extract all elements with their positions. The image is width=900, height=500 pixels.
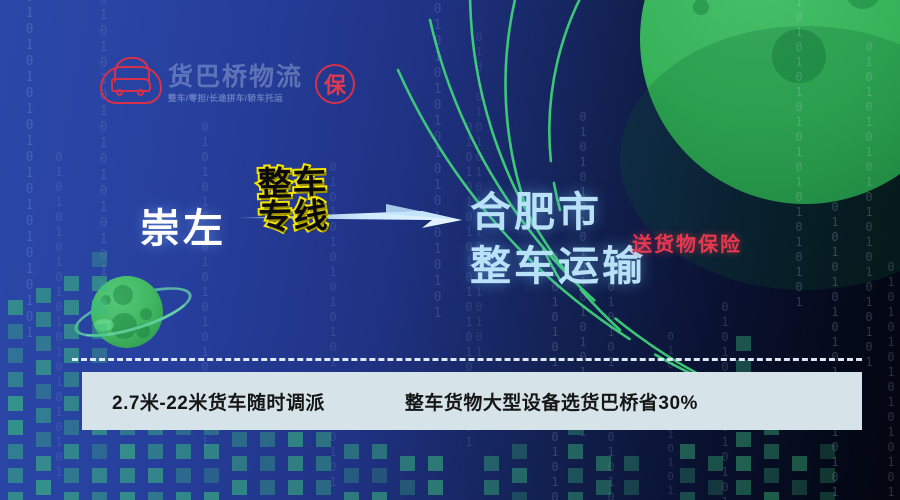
- pixel-square: [260, 456, 275, 471]
- pixel-square: [372, 492, 387, 500]
- pixel-square: [260, 432, 275, 447]
- destination-service: 整车运输: [470, 239, 646, 293]
- pixel-square: [680, 468, 695, 483]
- pixel-square: [64, 468, 79, 483]
- pixel-square: [204, 492, 219, 500]
- pixel-square: [680, 492, 695, 500]
- ringed-planet: [78, 272, 188, 352]
- green-planet: [640, 0, 900, 204]
- pixel-square: [176, 444, 191, 459]
- brand-logo[interactable]: 货巴桥物流 整车/零担/长途拼车/轿车托运 保: [100, 62, 355, 106]
- info-left: 2.7米-22米货车随时调派: [112, 388, 325, 415]
- binary-column: 0101010101010101010101: [22, 0, 37, 342]
- pixel-square: [764, 468, 779, 483]
- origin-city: 崇左: [140, 196, 226, 254]
- pixel-square: [512, 492, 527, 500]
- pixel-square: [36, 288, 51, 303]
- pixel-square: [512, 468, 527, 483]
- pixel-square: [92, 444, 107, 459]
- pixel-square: [428, 480, 443, 495]
- pixel-square: [288, 480, 303, 495]
- divider-dashed: [72, 358, 862, 361]
- pixel-square: [764, 492, 779, 500]
- pixel-square: [736, 336, 751, 351]
- pixel-square: [512, 444, 527, 459]
- pixel-square: [736, 480, 751, 495]
- pixel-square: [36, 456, 51, 471]
- pixel-square: [176, 492, 191, 500]
- route-tag-line2: 专线: [258, 200, 329, 235]
- pixel-square: [64, 492, 79, 500]
- pixel-square: [708, 456, 723, 471]
- insurance-badge: 保: [315, 64, 355, 104]
- brand-tagline: 整车/零担/长途拼车/轿车托运: [168, 92, 303, 104]
- pixel-square: [204, 444, 219, 459]
- cloud-truck-icon: [100, 62, 162, 106]
- pixel-square: [568, 468, 583, 483]
- pixel-square: [64, 300, 79, 315]
- brand-name: 货巴桥物流: [168, 64, 303, 90]
- pixel-square: [820, 444, 835, 459]
- binary-column: 0101010101010101010101: [52, 150, 66, 480]
- pixel-square: [624, 456, 639, 471]
- pixel-square: [288, 432, 303, 447]
- pixel-square: [36, 432, 51, 447]
- info-bar: 2.7米-22米货车随时调派 整车货物大型设备选货巴桥省30%: [82, 372, 862, 430]
- pixel-square: [764, 444, 779, 459]
- pixel-square: [36, 384, 51, 399]
- pixel-square: [624, 480, 639, 495]
- destination-city: 合肥市: [470, 185, 646, 239]
- pixel-square: [568, 492, 583, 500]
- route-type-tag: 整车 专线: [257, 167, 329, 235]
- pixel-square: [484, 456, 499, 471]
- pixel-square: [316, 432, 331, 447]
- pixel-square: [8, 444, 23, 459]
- pixel-square: [120, 492, 135, 500]
- pixel-square: [568, 444, 583, 459]
- pixel-square: [64, 420, 79, 435]
- binary-column: 0101010101010101010101: [430, 0, 445, 322]
- pixel-square: [148, 444, 163, 459]
- pixel-square: [148, 492, 163, 500]
- pixel-square: [316, 456, 331, 471]
- pixel-square: [36, 480, 51, 495]
- pixel-square: [344, 444, 359, 459]
- pixel-square: [400, 480, 415, 495]
- pixel-square: [400, 456, 415, 471]
- pixel-square: [64, 276, 79, 291]
- pixel-square: [316, 480, 331, 495]
- pixel-square: [92, 492, 107, 500]
- pixel-square: [8, 492, 23, 500]
- pixel-square: [820, 492, 835, 500]
- pixel-square: [8, 324, 23, 339]
- pixel-square: [64, 444, 79, 459]
- pixel-square: [596, 480, 611, 495]
- pixel-square: [372, 444, 387, 459]
- pixel-square: [344, 492, 359, 500]
- pixel-square: [484, 480, 499, 495]
- binary-column: 0101010101010101010101: [884, 260, 898, 500]
- pixel-square: [36, 360, 51, 375]
- pixel-square: [36, 408, 51, 423]
- pixel-square: [8, 420, 23, 435]
- pixel-square: [8, 468, 23, 483]
- pixel-square: [232, 480, 247, 495]
- pixel-square: [680, 444, 695, 459]
- pixel-square: [820, 468, 835, 483]
- pixel-square: [64, 372, 79, 387]
- pixel-square: [204, 468, 219, 483]
- pixel-square: [288, 456, 303, 471]
- pixel-square: [8, 300, 23, 315]
- pixel-square: [736, 432, 751, 447]
- pixel-square: [736, 456, 751, 471]
- destination-block: 合肥市 整车运输: [470, 185, 646, 293]
- pixel-square: [92, 252, 107, 267]
- pixel-square: [8, 348, 23, 363]
- pixel-square: [120, 468, 135, 483]
- pixel-square: [596, 456, 611, 471]
- pixel-square: [92, 468, 107, 483]
- poster-canvas: 0101010101010101010101 01010101010101010…: [0, 0, 900, 500]
- pixel-square: [344, 468, 359, 483]
- pixel-square: [792, 456, 807, 471]
- pixel-square: [372, 468, 387, 483]
- pixel-square: [232, 456, 247, 471]
- pixel-square: [120, 444, 135, 459]
- pixel-square: [8, 372, 23, 387]
- pixel-square: [428, 456, 443, 471]
- pixel-square: [8, 396, 23, 411]
- pixel-square: [176, 468, 191, 483]
- pixel-square: [260, 480, 275, 495]
- pixel-square: [36, 336, 51, 351]
- pixel-square: [36, 312, 51, 327]
- binary-column: 0101010101010101010101: [96, 0, 111, 312]
- info-right: 整车货物大型设备选货巴桥省30%: [405, 388, 698, 415]
- pixel-square: [232, 432, 247, 447]
- pixel-square: [64, 396, 79, 411]
- pixel-square: [148, 468, 163, 483]
- pixel-square: [792, 480, 807, 495]
- insurance-note: 送货物保险: [632, 228, 742, 257]
- pixel-square: [708, 480, 723, 495]
